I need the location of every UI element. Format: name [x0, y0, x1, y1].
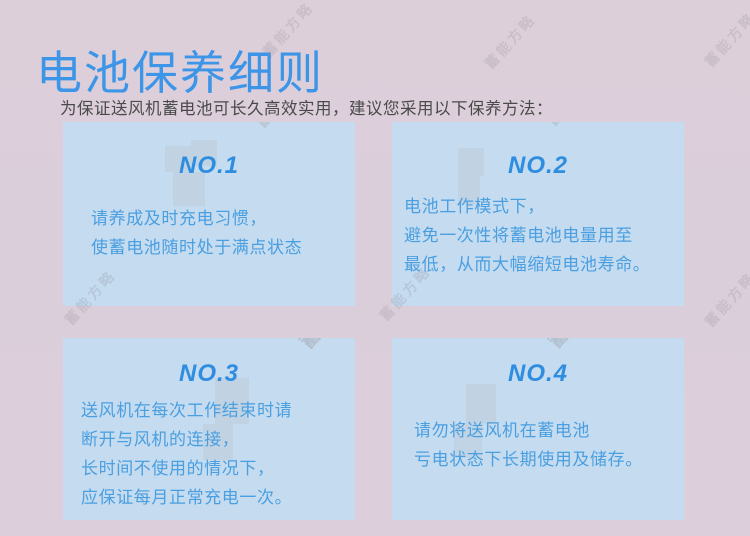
page-root: 蓄能方略 蓄能方略 蓄能方略 蓄能方略 蓄能方略 蓄能方略 电池保养细则 为保证…: [0, 0, 750, 536]
watermark-card-4: 蓄能方略: [542, 338, 618, 353]
watermark-card-1: 蓄能方略: [251, 122, 315, 132]
watermark-bg-1: 蓄能方略: [480, 9, 540, 73]
tip-card-4: 蓄能方略 NO.4 请勿将送风机在蓄电池 亏电状态下长期使用及储存。: [392, 338, 684, 520]
page-subtitle: 为保证送风机蓄电池可长久高效实用，建议您采用以下保养方法：: [60, 97, 553, 121]
card-line: 请勿将送风机在蓄电池: [414, 416, 684, 445]
tip-card-1: 蓄能方略 NO.1 请养成及时充电习惯， 使蓄电池随时处于满点状态: [63, 122, 355, 306]
card-line: 最低，从而大幅缩短电池寿命。: [404, 250, 684, 279]
card-line: 亏电状态下长期使用及储存。: [414, 445, 684, 474]
card-line: 请养成及时充电习惯，: [91, 204, 355, 233]
page-title: 电池保养细则: [36, 45, 324, 101]
watermark-card-3: 蓄能方略: [293, 338, 355, 354]
card-number-label: NO.4: [392, 360, 684, 388]
watermark-bg-2: 蓄能方略: [700, 7, 750, 71]
card-line: 避免一次性将蓄电池电量用至: [404, 221, 684, 250]
card-body-4: 请勿将送风机在蓄电池 亏电状态下长期使用及储存。: [392, 416, 684, 474]
card-line: 长时间不使用的情况下，: [81, 454, 355, 483]
tip-card-3: 蓄能方略 NO.3 送风机在每次工作结束时请 断开与风机的连接， 长时间不使用的…: [63, 338, 355, 520]
card-number-label: NO.1: [63, 152, 355, 180]
card-line: 应保证每月正常充电一次。: [81, 483, 355, 512]
card-body-1: 请养成及时充电习惯， 使蓄电池随时处于满点状态: [63, 204, 355, 262]
card-line: 断开与风机的连接，: [81, 425, 355, 454]
card-number-label: NO.3: [63, 360, 355, 388]
card-number-label: NO.2: [392, 152, 684, 180]
card-line: 使蓄电池随时处于满点状态: [91, 233, 355, 262]
card-body-3: 送风机在每次工作结束时请 断开与风机的连接， 长时间不使用的情况下， 应保证每月…: [63, 396, 355, 512]
tip-card-2: 蓄能方略 NO.2 电池工作模式下， 避免一次性将蓄电池电量用至 最低，从而大幅…: [392, 122, 684, 306]
card-line: 电池工作模式下，: [404, 192, 684, 221]
card-line: 送风机在每次工作结束时请: [81, 396, 355, 425]
card-body-2: 电池工作模式下， 避免一次性将蓄电池电量用至 最低，从而大幅缩短电池寿命。: [392, 192, 684, 279]
watermark-bg-6: 蓄能方略: [700, 267, 750, 331]
watermark-card-2: 蓄能方略: [542, 122, 606, 130]
